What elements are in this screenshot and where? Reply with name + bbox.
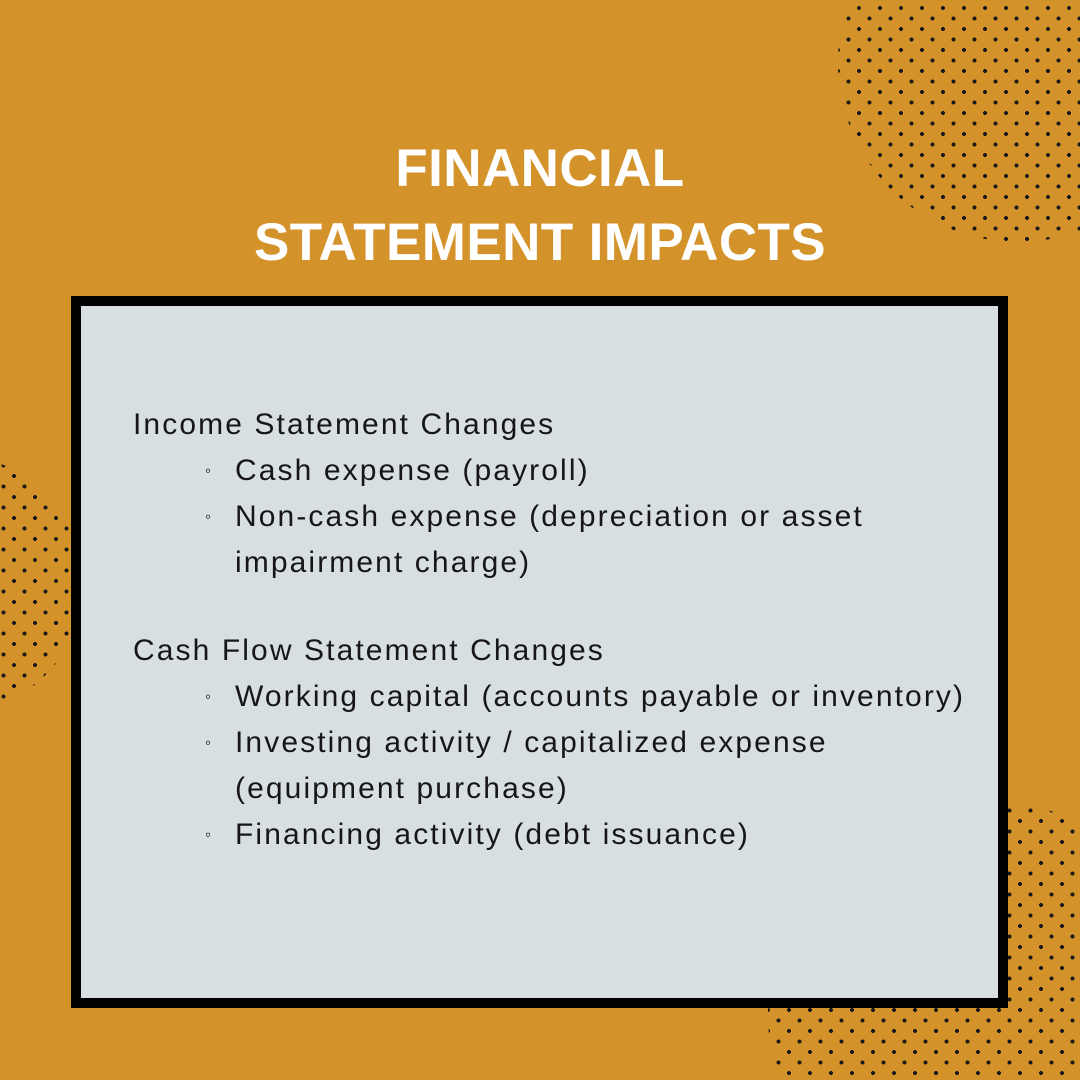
bullet-list: ◦ Cash expense (payroll) ◦ Non-cash expe… bbox=[133, 448, 980, 586]
section-heading: Income Statement Changes bbox=[133, 402, 980, 448]
content-list: Income Statement Changes ◦ Cash expense … bbox=[133, 402, 980, 858]
section-income-statement: Income Statement Changes ◦ Cash expense … bbox=[133, 402, 980, 586]
list-item: ◦ Cash expense (payroll) bbox=[133, 448, 980, 494]
list-item: ◦ Working capital (accounts payable or i… bbox=[133, 674, 980, 720]
bullet-circle-icon: ◦ bbox=[205, 448, 213, 494]
list-item-label: Non-cash expense (depreciation or asset … bbox=[235, 500, 864, 579]
list-item-label: Cash expense (payroll) bbox=[235, 454, 590, 487]
bullet-circle-icon: ◦ bbox=[205, 812, 213, 858]
bullet-list: ◦ Working capital (accounts payable or i… bbox=[133, 674, 980, 858]
slide-canvas: FINANCIAL STATEMENT IMPACTS Income State… bbox=[0, 0, 1080, 1080]
section-heading: Cash Flow Statement Changes bbox=[133, 628, 980, 674]
content-panel: Income Statement Changes ◦ Cash expense … bbox=[71, 296, 1008, 1008]
page-title: FINANCIAL STATEMENT IMPACTS bbox=[0, 132, 1080, 280]
list-item: ◦ Non-cash expense (depreciation or asse… bbox=[133, 494, 980, 586]
bullet-circle-icon: ◦ bbox=[205, 494, 213, 540]
list-item-label: Working capital (accounts payable or inv… bbox=[235, 680, 965, 713]
section-cash-flow-statement: Cash Flow Statement Changes ◦ Working ca… bbox=[133, 628, 980, 858]
list-item: ◦ Financing activity (debt issuance) bbox=[133, 812, 980, 858]
bullet-circle-icon: ◦ bbox=[205, 720, 213, 766]
list-item: ◦ Investing activity / capitalized expen… bbox=[133, 720, 980, 812]
list-item-label: Investing activity / capitalized expense… bbox=[235, 726, 828, 805]
list-item-label: Financing activity (debt issuance) bbox=[235, 818, 750, 851]
bullet-circle-icon: ◦ bbox=[205, 674, 213, 720]
